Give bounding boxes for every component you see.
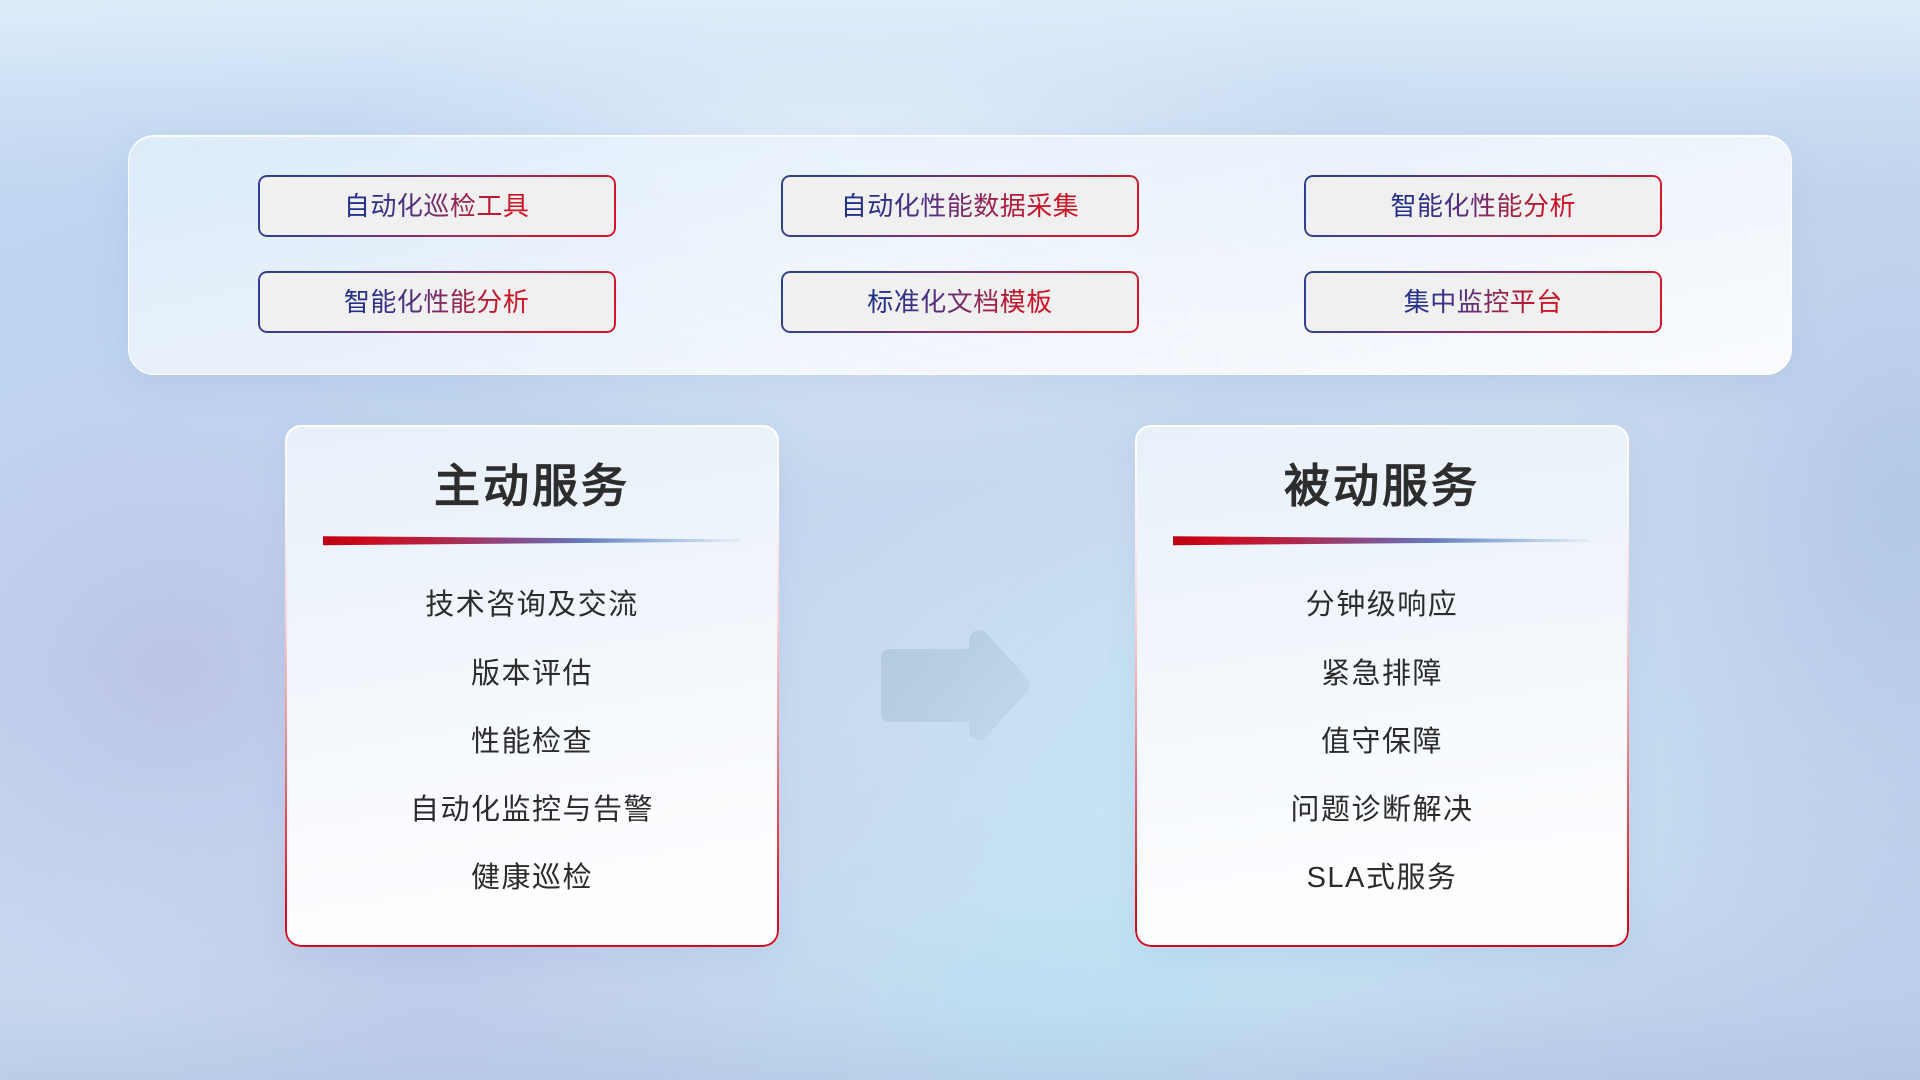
card-content: 被动服务 [1135,425,1629,947]
tag-chip-4[interactable]: 智能化性能分析 [258,271,616,333]
list-item: 自动化监控与告警 [410,793,654,828]
card-item-list: 技术咨询及交流 版本评估 性能检查 自动化监控与告警 健康巡检 [323,572,741,921]
tag-chip-3[interactable]: 智能化性能分析 [1304,175,1662,237]
card-item-list: 分钟级响应 紧急排障 值守保障 问题诊断解决 SLA式服务 [1173,572,1591,921]
card-proactive-service[interactable]: 主动服务 [285,425,779,947]
tag-label: 自动化巡检工具 [344,193,530,219]
card-title: 被动服务 [1284,461,1480,512]
card-title-divider [1173,534,1591,548]
right-arrow-icon [873,628,1037,744]
list-item: 版本评估 [471,657,593,692]
list-item: SLA式服务 [1307,861,1458,896]
tag-chip-2[interactable]: 自动化性能数据采集 [781,175,1139,237]
tag-label: 集中监控平台 [1404,289,1563,315]
tag-chip-5[interactable]: 标准化文档模板 [781,271,1139,333]
capability-tags-panel: 自动化巡检工具 自动化性能数据采集 智能化性能分析 智能化性能分析 标准化文档模… [128,135,1792,375]
tag-label: 智能化性能分析 [344,289,530,315]
tag-label: 标准化文档模板 [867,289,1053,315]
list-item: 性能检查 [471,725,593,760]
card-title-divider [323,534,741,548]
list-item: 问题诊断解决 [1290,793,1473,828]
card-title: 主动服务 [434,461,630,512]
list-item: 分钟级响应 [1306,588,1459,623]
list-item: 紧急排障 [1321,657,1443,692]
list-item: 值守保障 [1321,725,1443,760]
tag-chip-1[interactable]: 自动化巡检工具 [258,175,616,237]
tag-label: 智能化性能分析 [1391,193,1577,219]
list-item: 健康巡检 [471,861,593,896]
card-reactive-service[interactable]: 被动服务 [1135,425,1629,947]
list-item: 技术咨询及交流 [425,588,639,623]
slide-canvas: 自动化巡检工具 自动化性能数据采集 智能化性能分析 智能化性能分析 标准化文档模… [0,0,1920,1080]
tag-chip-6[interactable]: 集中监控平台 [1304,271,1662,333]
tag-label: 自动化性能数据采集 [841,193,1080,219]
card-content: 主动服务 [285,425,779,947]
